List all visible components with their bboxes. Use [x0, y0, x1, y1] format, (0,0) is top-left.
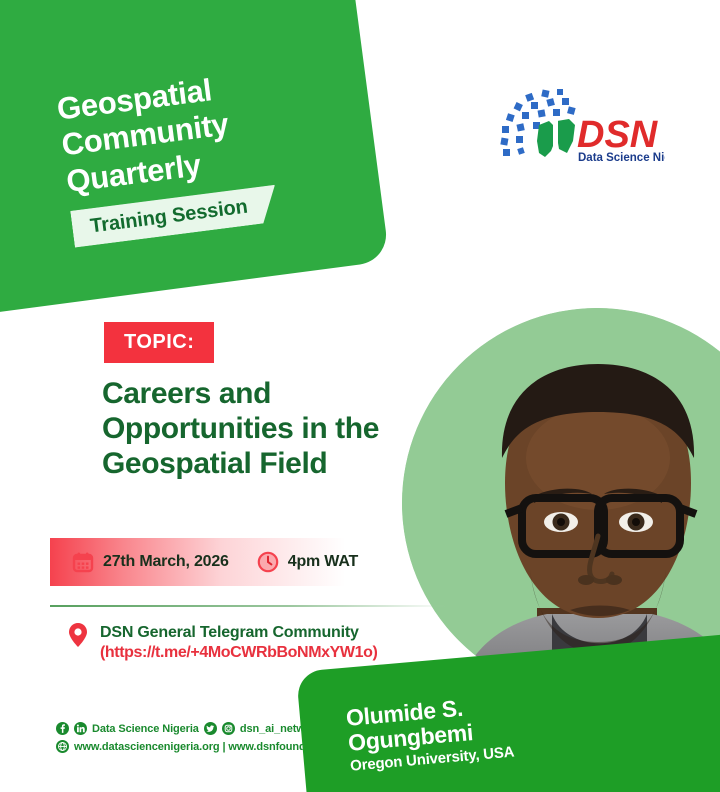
website-links[interactable]: www.datasciencenigeria.org | www.dsnfoun…: [74, 741, 331, 753]
dsn-logo-graphic: DSN Data Science Nigeria: [495, 85, 665, 170]
facebook-handle[interactable]: Data Science Nigeria: [92, 723, 199, 735]
dsn-tagline: Data Science Nigeria: [578, 152, 665, 164]
nigeria-map-stripe: [553, 119, 558, 157]
datetime-bar: 27th March, 2026 4pm WAT: [50, 538, 460, 586]
linkedin-icon[interactable]: [74, 722, 87, 735]
topic-badge: TOPIC:: [104, 322, 214, 363]
section-divider: [50, 605, 450, 607]
footer-row-websites: www.datasciencenigeria.org | www.dsnfoun…: [56, 740, 331, 753]
footer-social: Data Science Nigeria dsn_ai_network: [56, 722, 331, 758]
event-date-text: 27th March, 2026: [103, 553, 229, 571]
map-pin-icon: [68, 622, 88, 648]
instagram-icon[interactable]: [222, 722, 235, 735]
calendar-icon: [72, 551, 94, 573]
globe-icon[interactable]: [56, 740, 69, 753]
dsn-wordmark: DSN: [577, 114, 659, 156]
location-url[interactable]: (https://t.me/+4MoCWRbBoNMxYW1o): [100, 643, 377, 663]
dsn-logo: DSN Data Science Nigeria: [495, 85, 665, 170]
twitter-icon[interactable]: [204, 722, 217, 735]
location-name: DSN General Telegram Community: [100, 623, 377, 643]
footer-row-handles: Data Science Nigeria dsn_ai_network: [56, 722, 331, 735]
topic-title: Careers and Opportunities in the Geospat…: [102, 376, 402, 481]
nigeria-map-right: [557, 119, 575, 153]
clock-icon: [257, 551, 279, 573]
event-location: DSN General Telegram Community (https://…: [68, 622, 377, 663]
event-time: 4pm WAT: [257, 551, 358, 573]
event-date: 27th March, 2026: [72, 551, 229, 573]
event-time-text: 4pm WAT: [288, 553, 358, 571]
nigeria-map-left: [537, 121, 555, 157]
location-lines: DSN General Telegram Community (https://…: [100, 622, 377, 663]
facebook-icon[interactable]: [56, 722, 69, 735]
event-poster: Geospatial Community Quarterly Training …: [0, 0, 720, 792]
speaker-info: Olumide S. Ogungbemi Oregon University, …: [345, 692, 515, 775]
